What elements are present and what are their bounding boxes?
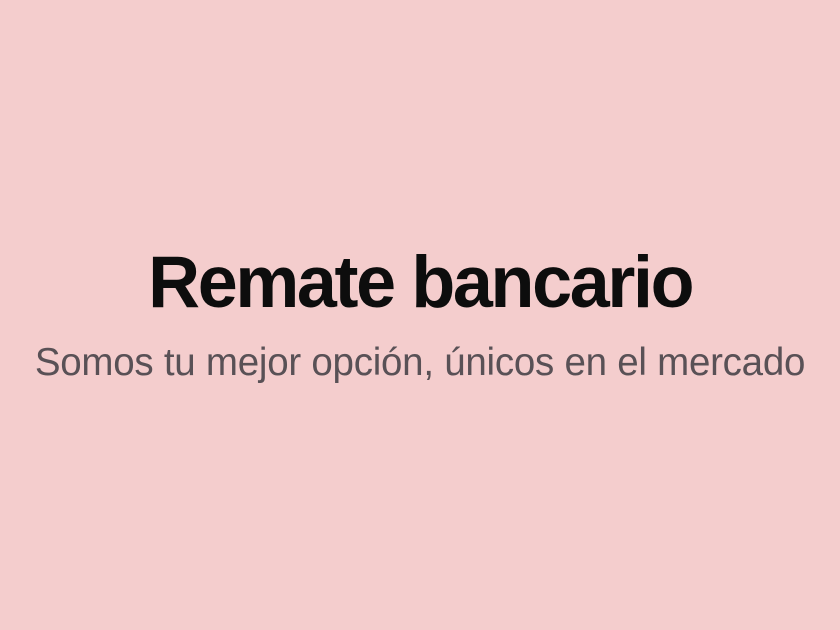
promo-banner: Remate bancario Somos tu mejor opción, ú… xyxy=(0,0,840,630)
banner-content: Remate bancario Somos tu mejor opción, ú… xyxy=(0,0,840,630)
page-title: Remate bancario xyxy=(148,247,692,319)
subtitle-row: Somos tu mejor opción, únicos en el merc… xyxy=(0,343,840,383)
page-subtitle: Somos tu mejor opción, únicos en el merc… xyxy=(35,343,805,383)
